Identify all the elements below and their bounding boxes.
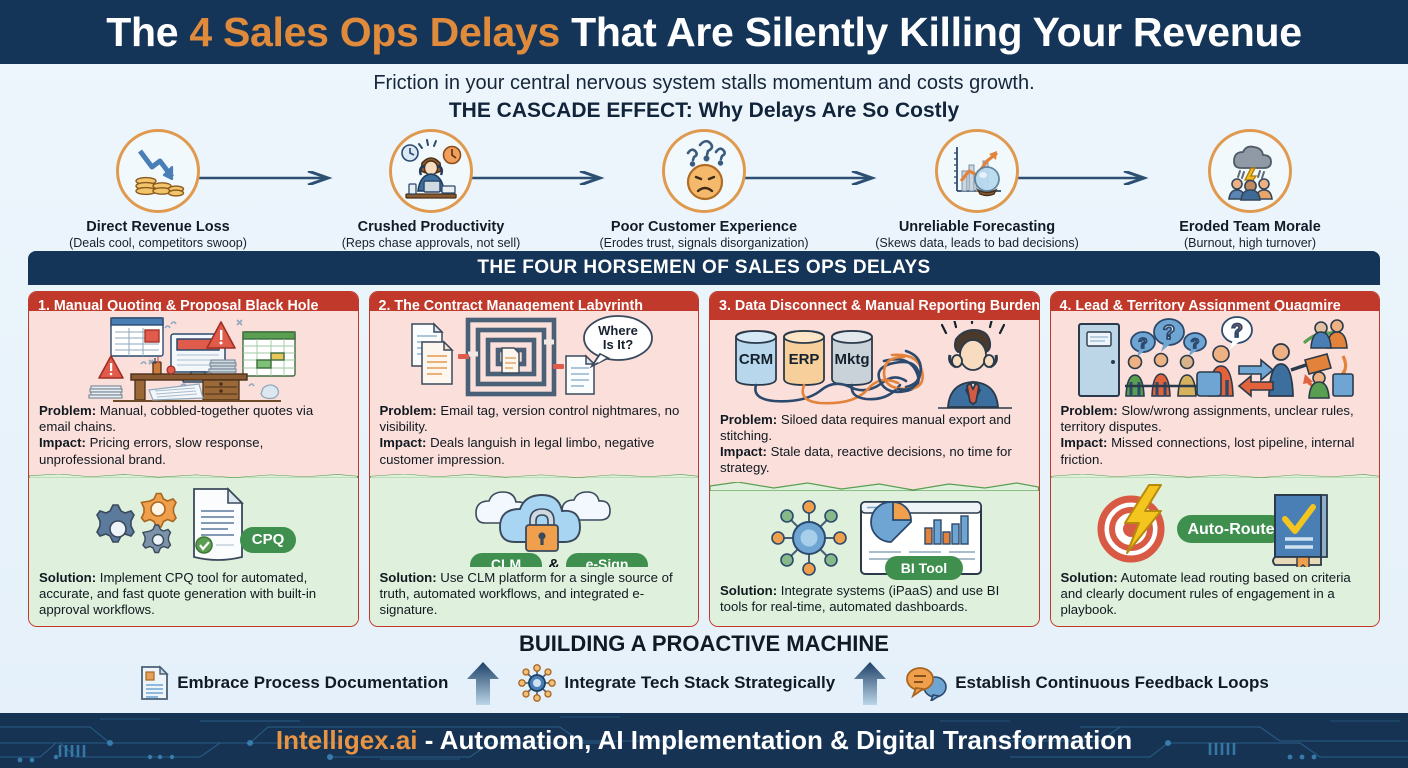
card-impact-text-2: Impact: Deals languish in legal limbo, n… [380, 435, 689, 467]
horsemen-band: THE FOUR HORSEMEN OF SALES OPS DELAYS [28, 251, 1380, 285]
card-problem-2: Where Is It? Problem: Email tag, version… [370, 311, 699, 473]
impact-label-3: Impact: [720, 444, 767, 459]
card-problem-text-2: Problem: Email tag, version control nigh… [380, 403, 689, 435]
impact-label-4: Impact: [1061, 435, 1108, 450]
footer-text: Intelligex.ai - Automation, AI Implement… [276, 725, 1132, 756]
footer-brand: Intelligex.ai [276, 725, 418, 755]
waiting-room-queue-confused-leads-icon: ? ? ? ? [1065, 312, 1365, 402]
tech-stack-network-icon [518, 664, 556, 702]
cascade-node-5: Eroded Team Morale (Burnout, high turnov… [1150, 129, 1350, 250]
horsemen-cards-row: 1. Manual Quoting & Proposal Black Hole [0, 285, 1408, 627]
horseman-card-2[interactable]: 2. The Contract Management Labyrinth [369, 291, 700, 627]
card-header-3: 3. Data Disconnect & Manual Reporting Bu… [710, 292, 1039, 320]
horsemen-band-title: THE FOUR HORSEMEN OF SALES OPS DELAYS [477, 257, 930, 279]
proactive-title: BUILDING A PROACTIVE MACHINE [0, 631, 1408, 657]
subtitle-line: Friction in your central nervous system … [0, 72, 1408, 95]
maze-documents-where-is-it-icon: Where Is It? [394, 312, 674, 402]
cascade-label-4: Unreliable Forecasting [899, 219, 1055, 235]
problem-label-2: Problem: [380, 403, 437, 418]
impact-label-2: Impact: [380, 435, 427, 450]
subtitle-block: Friction in your central nervous system … [0, 64, 1408, 123]
solution-label-1: Solution: [39, 570, 96, 585]
cascade-effect-heading: THE CASCADE EFFECT: Why Delays Are So Co… [0, 99, 1408, 123]
confused-sad-face-icon [672, 139, 736, 203]
proactive-label-2: Integrate Tech Stack Strategically [564, 673, 835, 693]
card-header-2: 2. The Contract Management Labyrinth [370, 292, 699, 311]
solution-label-3: Solution: [720, 583, 777, 598]
question-glyph-1: ? [1138, 335, 1147, 352]
cascade-label-1: Direct Revenue Loss [86, 219, 229, 235]
title-banner: The 4 Sales Ops Delays That Are Silently… [0, 0, 1408, 64]
card-solution-text-2: Solution: Use CLM platform for a single … [380, 570, 689, 618]
card-problem-text-3: Problem: Siloed data requires manual exp… [720, 412, 1029, 444]
cascade-node-2: Crushed Productivity (Reps chase approva… [331, 129, 531, 250]
speech-bubbles-icon [905, 665, 947, 701]
card-problem-1: Problem: Manual, cobbled-together quotes… [29, 311, 358, 473]
cascade-row: Direct Revenue Loss (Deals cool, competi… [0, 129, 1408, 249]
card-problem-3: CRM ERP Mktg [710, 320, 1039, 482]
cascade-sub-5: (Burnout, high turnover) [1184, 236, 1316, 250]
card-solution-illustration-2: CLM & e-Sign [380, 478, 689, 570]
cascade-icon-circle-4 [935, 129, 1019, 213]
horseman-card-1[interactable]: 1. Manual Quoting & Proposal Black Hole [28, 291, 359, 627]
card-illustration-3: CRM ERP Mktg [720, 320, 1029, 412]
title-accent: 4 Sales Ops Delays [189, 9, 560, 55]
title-post: That Are Silently Killing Your Revenue [560, 9, 1302, 55]
up-arrow-icon[interactable] [466, 661, 500, 705]
impact-label-1: Impact: [39, 435, 86, 450]
card-solution-illustration-4: Auto-Route [1061, 478, 1370, 570]
callout-line-2: Is It? [603, 337, 633, 352]
title-pre: The [106, 9, 189, 55]
target-lightning-playbook-icon: Auto-Route [1085, 481, 1345, 567]
cascade-icon-circle-3 [662, 129, 746, 213]
card-illustration-2: Where Is It? [380, 311, 689, 403]
cascade-icon-circle-5 [1208, 129, 1292, 213]
card-solution-4: Auto-Route Solution: Automate lead routi… [1051, 478, 1380, 626]
card-solution-text-1: Solution: Implement CPQ tool for automat… [39, 570, 348, 618]
badge-joiner: & [548, 557, 560, 567]
card-solution-illustration-3: BI Tool [720, 491, 1029, 583]
up-arrow-icon-2[interactable] [853, 661, 887, 705]
solution-label-2: Solution: [380, 570, 437, 585]
card-problem-4: ? ? ? ? [1051, 311, 1380, 473]
problem-label-4: Problem: [1061, 403, 1118, 418]
card-problem-text-4: Problem: Slow/wrong assignments, unclear… [1061, 403, 1370, 435]
badge-label-bitool: BI Tool [901, 560, 947, 576]
cascade-node-3: Poor Customer Experience (Erodes trust, … [604, 129, 804, 250]
card-problem-text-1: Problem: Manual, cobbled-together quotes… [39, 403, 348, 435]
card-solution-illustration-1: CPQ [39, 478, 348, 570]
card-impact-text-3: Impact: Stale data, reactive decisions, … [720, 444, 1029, 476]
proactive-row: Embrace Process Documentation [0, 661, 1408, 705]
card-illustration-4: ? ? ? ? [1061, 311, 1370, 403]
card-solution-1: CPQ Solution: Implement CPQ tool for aut… [29, 478, 358, 626]
page-title: The 4 Sales Ops Delays That Are Silently… [106, 9, 1301, 56]
horseman-card-4[interactable]: 4. Lead & Territory Assignment Quagmire … [1050, 291, 1381, 627]
card-impact-text-4: Impact: Missed connections, lost pipelin… [1061, 435, 1370, 467]
proactive-item-1[interactable]: Embrace Process Documentation [139, 665, 448, 701]
card-divider-3 [710, 482, 1039, 491]
silo-label-mktg: Mktg [835, 351, 870, 368]
data-silos-tangled-wires-stressed-man-icon: CRM ERP Mktg [724, 321, 1024, 411]
card-solution-text-3: Solution: Integrate systems (iPaaS) and … [720, 583, 1029, 615]
badge-label-autoroute: Auto-Route [1187, 521, 1274, 538]
cascade-node-4: Unreliable Forecasting (Skews data, lead… [877, 129, 1077, 250]
card-illustration-1 [39, 311, 348, 403]
card-solution-text-4: Solution: Automate lead routing based on… [1061, 570, 1370, 618]
card-impact-text-1: Impact: Pricing errors, slow response, u… [39, 435, 348, 467]
cascade-label-5: Eroded Team Morale [1179, 219, 1321, 235]
cascade-sub-4: (Skews data, leads to bad decisions) [875, 236, 1079, 250]
integration-hub-dashboard-icon: BI Tool [749, 494, 999, 580]
footer-bar: Intelligex.ai - Automation, AI Implement… [0, 713, 1408, 768]
badge-label-cpq: CPQ [252, 531, 285, 548]
problem-label-3: Problem: [720, 412, 777, 427]
gears-document-cpq-icon: CPQ [68, 481, 318, 567]
stressed-worker-clocks-icon [398, 139, 464, 203]
silo-label-crm: CRM [739, 351, 773, 368]
cascade-node-1: Direct Revenue Loss (Deals cool, competi… [58, 129, 258, 250]
proactive-item-2[interactable]: Integrate Tech Stack Strategically [518, 664, 835, 702]
cascade-sub-2: (Reps chase approvals, not sell) [342, 236, 521, 250]
cascade-label-3: Poor Customer Experience [611, 219, 797, 235]
question-glyph-2: ? [1163, 322, 1175, 344]
cloud-lock-icon: CLM & e-Sign [414, 481, 654, 567]
silo-label-erp: ERP [789, 351, 820, 368]
card-header-4: 4. Lead & Territory Assignment Quagmire [1051, 292, 1380, 311]
cascade-sub-3: (Erodes trust, signals disorganization) [599, 236, 808, 250]
cluttered-desk-spreadsheets-warning-icon [53, 312, 333, 402]
problem-label-1: Problem: [39, 403, 96, 418]
storm-cloud-team-icon [1218, 139, 1282, 203]
question-glyph-3: ? [1190, 335, 1199, 351]
badge-label-clm: CLM [491, 556, 521, 567]
proactive-label-3: Establish Continuous Feedback Loops [955, 673, 1269, 693]
infographic-page: The 4 Sales Ops Delays That Are Silently… [0, 0, 1408, 768]
cascade-icon-circle-2 [389, 129, 473, 213]
horseman-card-3[interactable]: 3. Data Disconnect & Manual Reporting Bu… [709, 291, 1040, 627]
footer-tagline: - Automation, AI Implementation & Digita… [418, 725, 1133, 755]
card-solution-3: BI Tool Solution: Integrate systems (iPa… [710, 491, 1039, 626]
callout-line-1: Where [598, 323, 638, 338]
document-page-icon [139, 665, 169, 701]
badge-label-esign: e-Sign [585, 556, 628, 567]
crystal-ball-chart-icon [945, 139, 1009, 203]
proactive-item-3[interactable]: Establish Continuous Feedback Loops [905, 665, 1269, 701]
card-header-1: 1. Manual Quoting & Proposal Black Hole [29, 292, 358, 311]
cascade-label-2: Crushed Productivity [358, 219, 505, 235]
solution-label-4: Solution: [1061, 570, 1118, 585]
proactive-label-1: Embrace Process Documentation [177, 673, 448, 693]
question-glyph-4: ? [1231, 321, 1243, 342]
revenue-down-arrow-coins-icon [126, 139, 190, 203]
cascade-icon-circle-1 [116, 129, 200, 213]
card-solution-2: CLM & e-Sign Solution: Use CLM platform … [370, 478, 699, 626]
cascade-sub-1: (Deals cool, competitors swoop) [69, 236, 247, 250]
